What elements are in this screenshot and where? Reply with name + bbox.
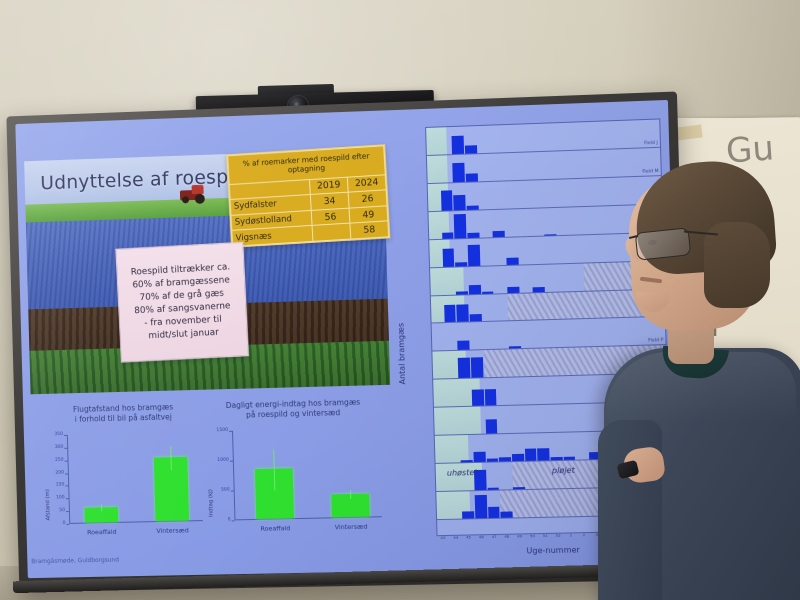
bar <box>507 286 519 292</box>
x-tick-label: Roeaffald <box>249 524 303 533</box>
y-tick-label: 0 <box>216 517 231 522</box>
bar <box>493 231 505 237</box>
bar <box>525 448 537 460</box>
bar <box>512 454 524 462</box>
y-tick-mark <box>230 461 233 462</box>
bar <box>466 173 478 181</box>
error-bar <box>350 490 351 499</box>
panel-field-label: Field J <box>644 141 658 147</box>
bar <box>513 487 525 489</box>
y-tick-mark <box>65 486 68 487</box>
y-tick-mark <box>66 498 69 499</box>
daily-energy-intake-chart: Dagligt energi-indtag hos bramgæspå roes… <box>196 397 395 551</box>
x-tick-label: 45 <box>466 534 471 539</box>
unharvested-band <box>435 435 469 463</box>
glasses-icon <box>635 227 692 260</box>
y-axis-label: Indtag (kJ) <box>208 489 215 517</box>
bar <box>456 292 468 294</box>
x-tick-label: 52 <box>556 533 561 538</box>
bar <box>506 258 518 265</box>
y-tick-mark <box>66 511 69 512</box>
x-tick-label: Vintersæd <box>148 526 197 535</box>
bar <box>473 452 485 462</box>
roespild-percentage-table: % af roemarker med roespild efter optagn… <box>226 144 390 248</box>
bar <box>472 389 484 406</box>
bar <box>551 457 563 461</box>
y-tick-mark <box>232 520 235 521</box>
unharvested-band <box>426 127 447 155</box>
y-tick-mark <box>66 524 69 525</box>
bar <box>486 458 498 461</box>
x-tick-label: 51 <box>543 533 548 538</box>
bar <box>468 245 480 266</box>
y-tick-label: 350 <box>48 432 63 437</box>
bar <box>467 232 479 238</box>
roespild-callout-box: Roespild tiltrækker ca. 60% af bramgæsse… <box>115 242 249 363</box>
bar <box>457 305 469 323</box>
x-tick-label: 1 <box>570 532 573 537</box>
unharvested-band <box>434 407 481 435</box>
y-tick-label: 500 <box>215 488 230 493</box>
callout-line: midt/slut januar <box>148 327 219 343</box>
y-tick-label: 250 <box>49 457 64 462</box>
unharvested-band <box>427 155 448 183</box>
x-tick-label: Vintersæd <box>324 522 378 531</box>
y-tick-mark <box>64 435 67 436</box>
bar <box>537 448 549 460</box>
bar <box>484 389 496 406</box>
y-axis <box>232 431 235 521</box>
wall-mounted-tv: Udnyttelse af roespild % af roemarker me… <box>6 91 690 592</box>
error-bar <box>101 504 102 511</box>
bar <box>533 287 545 292</box>
table-cell-2024: 58 <box>350 221 389 239</box>
y-tick-label: 200 <box>49 470 64 475</box>
x-tick-label: 47 <box>492 534 497 539</box>
bar <box>465 145 477 153</box>
bar <box>458 341 470 350</box>
annotation-uhostet: uhøstet <box>447 468 478 478</box>
y-tick-label: 150 <box>50 483 65 488</box>
x-tick-label: 48 <box>504 534 509 539</box>
bar <box>467 205 479 210</box>
slide-credit: Bramgåsmøde, Guldborgsund <box>31 557 119 566</box>
bar <box>454 214 466 238</box>
x-tick-label: 43 <box>440 535 445 540</box>
y-tick-mark <box>229 431 232 432</box>
y-tick-mark <box>64 448 67 449</box>
x-tick-label: Roeaffald <box>77 528 126 537</box>
bar <box>475 495 487 518</box>
bar <box>441 190 453 210</box>
bar <box>442 249 454 267</box>
bar <box>499 457 511 461</box>
bar <box>462 511 474 519</box>
bar <box>563 457 575 460</box>
bar <box>453 163 465 182</box>
bar <box>488 506 500 518</box>
presentation-slide: Udnyttelse af roespild % af roemarker me… <box>15 100 681 578</box>
y-tick-mark <box>65 460 68 461</box>
y-tick-label: 0 <box>51 521 66 526</box>
bar <box>454 195 466 210</box>
chart-plot-area: 050010001500RoeaffaldVintersæd <box>232 427 382 520</box>
y-axis-label: Antal bramgæs <box>396 323 407 385</box>
bar <box>455 262 467 266</box>
x-tick-label: 46 <box>479 534 484 539</box>
bar <box>487 487 499 490</box>
x-tick-label: 50 <box>530 533 535 538</box>
chart-title: Dagligt energi-indtag hos bramgæspå roes… <box>196 397 391 422</box>
bar <box>442 233 454 239</box>
bar <box>461 460 473 462</box>
y-tick-label: 1500 <box>213 428 228 433</box>
chart-plot-area: 050100150200250300350RoeaffaldVintersæd <box>67 432 203 524</box>
table-cell-2019 <box>312 223 351 241</box>
bar <box>471 357 483 378</box>
bar <box>485 419 497 434</box>
y-tick-mark <box>65 473 68 474</box>
bar <box>458 357 470 378</box>
y-tick-mark <box>231 491 234 492</box>
bar <box>501 511 513 518</box>
x-tick-label: 2 <box>583 532 586 537</box>
y-tick-label: 100 <box>50 496 65 501</box>
flight-distance-chart: Flugtafstand hos bramgæsi forhold til bi… <box>37 402 214 555</box>
chart-title: Flugtafstand hos bramgæsi forhold til bi… <box>37 402 210 426</box>
y-tick-label: 300 <box>49 445 64 450</box>
presenter <box>596 152 800 600</box>
bar <box>470 314 482 322</box>
x-tick-label: 44 <box>453 535 458 540</box>
bar <box>444 305 456 323</box>
y-tick-label: 1000 <box>214 458 229 463</box>
y-axis-label: Afstand (m) <box>45 489 52 520</box>
annotation-plojet: pløjet <box>552 466 575 476</box>
meeting-room-scene: Gu ✗ VI KO ✗ V Poly <box>0 0 800 600</box>
bar <box>452 135 464 154</box>
bar <box>509 346 521 349</box>
tv-screen: Udnyttelse af roespild % af roemarker me… <box>15 100 681 578</box>
unharvested-band <box>430 267 464 295</box>
bar <box>469 284 481 293</box>
x-tick-label: 49 <box>517 533 522 538</box>
y-tick-label: 50 <box>50 508 65 513</box>
